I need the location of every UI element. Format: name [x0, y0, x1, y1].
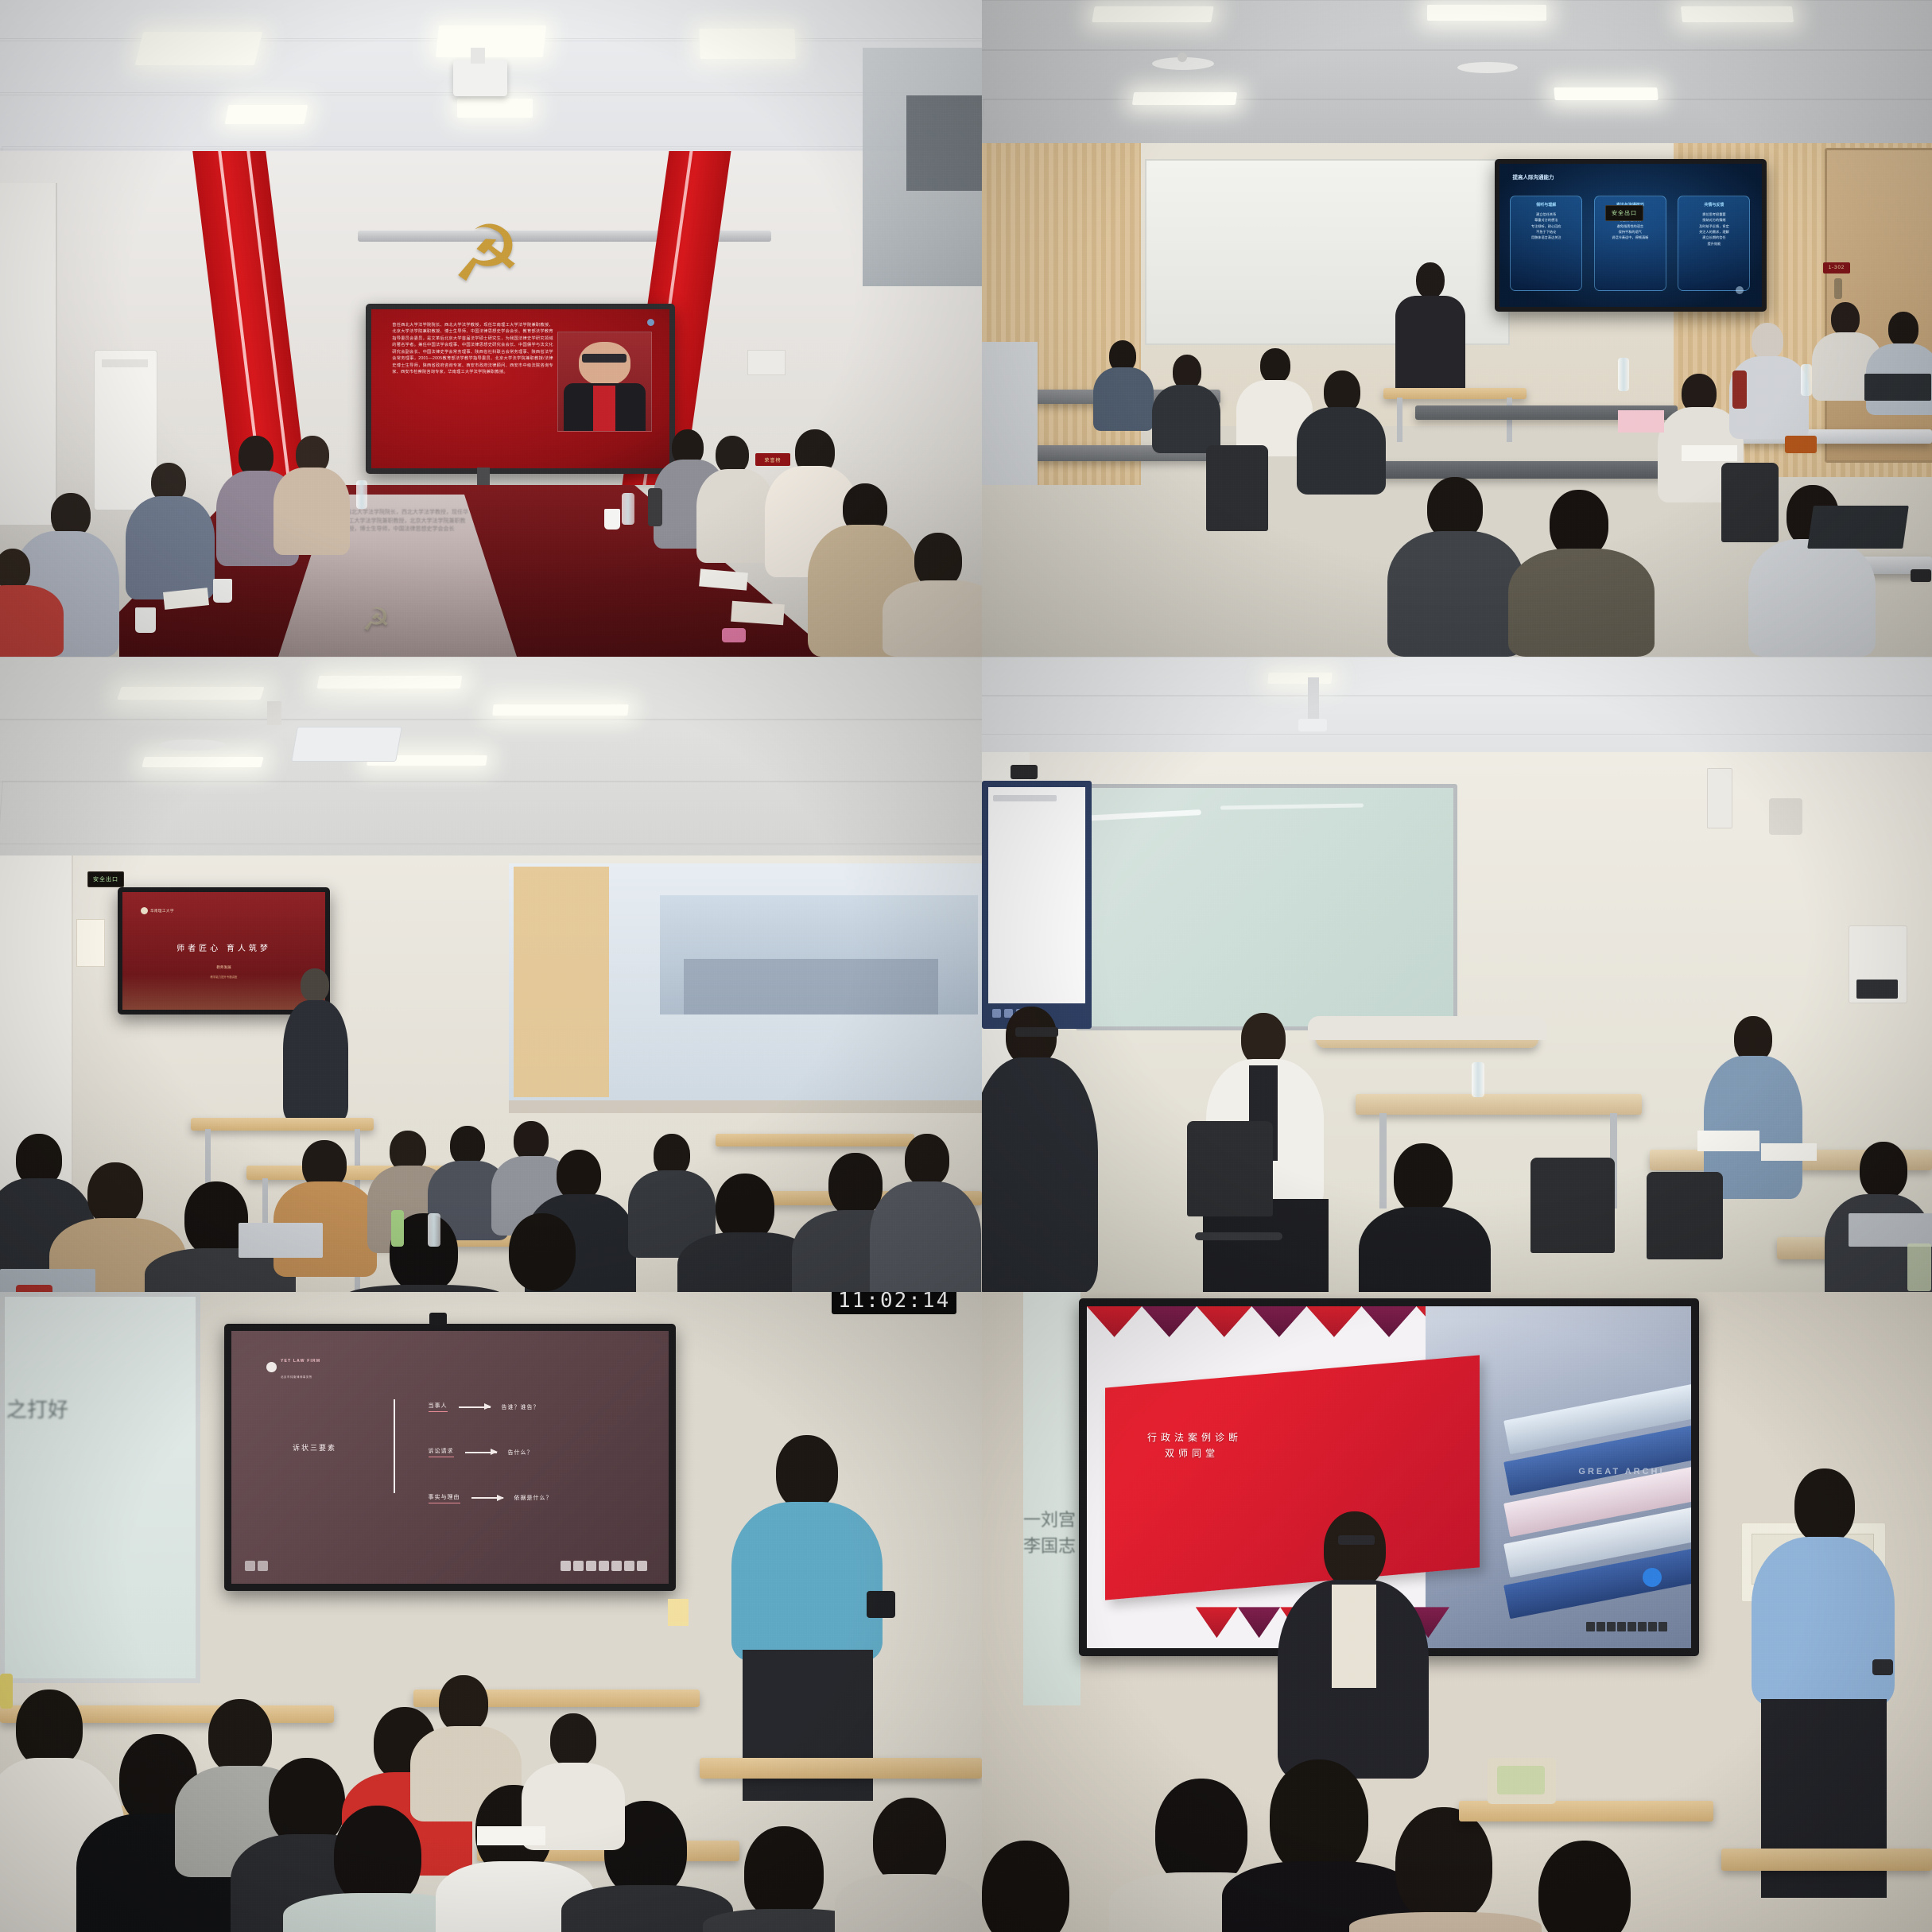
partition: [1308, 1016, 1546, 1040]
slide-biography: 曾任西北大学法学院院长、西北大学法学教授，现任华南理工大学法学院兼职教授、北京大…: [371, 309, 669, 468]
city-view: [684, 959, 938, 1014]
document: [1697, 1131, 1759, 1151]
attendee-body: [982, 1057, 1098, 1292]
bag: [16, 1285, 52, 1292]
student-desk: [716, 1134, 914, 1146]
slide-row: 当事人 告谁？谁告？: [429, 1402, 540, 1412]
camera: [429, 1313, 447, 1325]
brand-line-1: YET LAW FIRM: [281, 1359, 320, 1364]
plant: [1497, 1766, 1545, 1794]
office-chair: [1721, 463, 1779, 542]
slide-subtitle: 教师发展: [122, 965, 325, 970]
attendee-body: [1387, 531, 1524, 657]
attendee-body: [1297, 407, 1386, 495]
office-chair: [1206, 445, 1268, 531]
ceiling-light: [492, 704, 628, 716]
biography-text: 曾任西北大学法学院院长、西北大学法学教授，现任华南理工大学法学院兼职教授、北京大…: [392, 322, 553, 375]
pink-paper: [1618, 410, 1664, 433]
row-key: 诉讼请求: [429, 1447, 454, 1457]
attendee-head: [1860, 1142, 1907, 1199]
org-logo: 华南理工大学: [141, 907, 174, 914]
wall-panel: [1856, 980, 1898, 999]
thermos-bottle: [648, 488, 662, 526]
app-toolbar: [993, 795, 1057, 801]
seminar-table: [1356, 1094, 1642, 1115]
lecturer-body: [731, 1502, 883, 1661]
lecturer-head: [1416, 262, 1445, 299]
ceiling-light: [1132, 92, 1237, 105]
window-sill: [509, 1100, 982, 1113]
firm-brand: YET LAW FIRM 北京市炜衡律师事务所: [266, 1351, 320, 1383]
attendee-head: [828, 1153, 883, 1216]
arrow-icon: [459, 1406, 491, 1408]
watermark-icon: [647, 319, 654, 326]
attendee-body: [696, 469, 774, 563]
ceiling-light: [1092, 6, 1214, 22]
table-reflection-text: 曾任西北大学法学院院长，西北大学法学教授，现任华南理工大学法学院兼职教授，北京大…: [334, 509, 469, 628]
paper-cup: [604, 509, 620, 530]
panel-dual-teacher-class: 一刘宫 李国志: [982, 1292, 1932, 1932]
paper-cup: [135, 607, 156, 633]
laptop: [1864, 374, 1931, 401]
slide-complaint-elements: YET LAW FIRM 北京市炜衡律师事务所 诉状三要素 当事人 告谁？谁告？…: [231, 1331, 669, 1584]
student-body: [835, 1874, 982, 1932]
pink-item: [722, 628, 746, 642]
left-cabinet: [0, 183, 57, 525]
phone: [1911, 569, 1931, 582]
water-bottle: [0, 1674, 13, 1709]
instructor-head: [1324, 1511, 1386, 1588]
attendee-head: [87, 1162, 143, 1226]
teacher-head: [1241, 1013, 1286, 1065]
attendee-head: [557, 1150, 601, 1201]
lecturer-body: [283, 1000, 348, 1121]
cup: [1785, 436, 1817, 453]
row-value: 依据是什么？: [514, 1494, 553, 1502]
lecturer-head: [776, 1435, 838, 1510]
student-head: [550, 1713, 596, 1767]
laptop: [1807, 506, 1909, 549]
wall-poster: [76, 919, 105, 967]
attendee-body: [1508, 549, 1655, 657]
notebook: [731, 601, 785, 626]
attendee-head: [509, 1213, 576, 1291]
air-conditioner: [94, 350, 157, 510]
slide-teacher-training: 华南理工大学 师者匠心 育人筑梦 教师发展 教学能力提升专题讲座: [122, 892, 325, 1010]
watermark-icon: [1643, 1568, 1662, 1587]
ceiling: [982, 0, 1932, 167]
glass-whiteboard: [1023, 1292, 1080, 1705]
student-head: [1270, 1759, 1368, 1877]
ceiling-light: [1267, 673, 1332, 684]
water-bottle: [1618, 358, 1629, 391]
brand-line-2: 北京市炜衡律师事务所: [281, 1375, 312, 1379]
water-bottle: [428, 1213, 440, 1247]
room-sign: 1-302: [1823, 262, 1850, 274]
glass-whiteboard: [0, 1292, 200, 1683]
wristwatch: [1872, 1659, 1893, 1675]
attendee-body: [1093, 367, 1154, 431]
student-desk: [191, 1118, 374, 1131]
glasses: [1338, 1535, 1375, 1545]
laptop: [1849, 1213, 1932, 1247]
panel-seminar-room-lecture: 提高人际沟通能力 倾听与理解 建立信任关系 尊重对方的想法 专注倾听，耐心回应 …: [982, 0, 1932, 657]
student-head: [744, 1826, 824, 1920]
exit-sign: 安全出口: [1605, 205, 1643, 221]
student-head: [208, 1699, 272, 1774]
student-head: [1538, 1841, 1631, 1932]
slide-row: 事实与理由 依据是什么？: [429, 1493, 553, 1503]
ceiling-mount: [267, 701, 281, 725]
ceiling-light: [436, 25, 546, 57]
sticky-note: [668, 1599, 689, 1626]
attendee-head: [905, 1134, 949, 1186]
ceiling-pipe: [1707, 768, 1732, 828]
column-items: 建立信任关系 尊重对方的想法 专注倾听，耐心回应 不急于下结论 用肢体语言表达关…: [1517, 211, 1575, 241]
water-bottle: [1801, 364, 1812, 396]
document: [1761, 1143, 1817, 1161]
hammer-sickle-emblem: ☭: [452, 215, 522, 293]
podium: [982, 342, 1038, 485]
attendee-head: [1831, 302, 1860, 336]
attendee-head: [716, 436, 749, 474]
curtain: [514, 867, 609, 1097]
ceiling-light: [457, 99, 533, 118]
student-desk: [1721, 1849, 1932, 1871]
ceiling-mount: [1308, 677, 1319, 722]
document: [477, 1826, 545, 1845]
document: [1682, 445, 1737, 461]
row-value: 告什么？: [508, 1449, 533, 1457]
student-body: [1349, 1912, 1542, 1932]
column-items: 换位思考很重要 接纳对方的情绪 及时给予反馈，肯定 关注人的需求，理解 建立长期…: [1685, 211, 1743, 246]
row-key: 事实与理由: [429, 1493, 460, 1503]
projector-mount: [471, 48, 485, 64]
attendee-body: [0, 585, 64, 657]
whiteboard-handwriting: 之打好: [6, 1394, 126, 1441]
attendee-head: [1260, 348, 1290, 383]
slide-toolbar[interactable]: [1586, 1622, 1667, 1631]
panel-small-group-seminar: [982, 657, 1932, 1292]
door-handle[interactable]: [1834, 278, 1842, 299]
slide-communication: 提高人际沟通能力 倾听与理解 建立信任关系 尊重对方的想法 专注倾听，耐心回应 …: [1499, 164, 1762, 307]
exit-sign: 安全出口: [87, 871, 124, 887]
ac-vent: [291, 727, 402, 762]
smart-panel[interactable]: [982, 781, 1092, 1029]
column-heading: 共情与反馈: [1678, 202, 1749, 208]
row-key: 当事人: [429, 1402, 448, 1412]
attendee-body: [1152, 385, 1220, 453]
logo-mark: [141, 907, 148, 914]
laptop: [239, 1223, 323, 1258]
logo-mark: [266, 1362, 277, 1372]
book-caption: GREAT ARCHI: [1578, 1467, 1664, 1476]
ac-vent: [102, 359, 148, 367]
paper-cup: [213, 579, 232, 603]
wall-speaker: [747, 350, 786, 375]
slide-divider: [394, 1399, 396, 1493]
slide-column: 共情与反馈 换位思考很重要 接纳对方的情绪 及时给予反馈，肯定 关注人的需求，理…: [1678, 196, 1750, 292]
glass-whiteboard: [1076, 784, 1457, 1030]
panel-party-meeting-room: ☭ 曾任西北大学法学院院长、西北大学法学教授，现任华南理工大学法学院兼职教授、北…: [0, 0, 982, 657]
slide-title: 行政法案例诊断 双师同堂: [1147, 1430, 1242, 1462]
ceiling: [982, 657, 1932, 768]
attendee-body: [883, 580, 982, 657]
water-bottle: [622, 493, 634, 525]
student-head: [982, 1841, 1069, 1932]
lecturer-body: [1395, 296, 1465, 399]
city-silhouette: [122, 975, 325, 1010]
student-head: [16, 1690, 83, 1767]
arrow-icon: [471, 1497, 503, 1499]
glass-cup: [1907, 1243, 1931, 1291]
wall-display[interactable]: 提高人际沟通能力 倾听与理解 建立信任关系 尊重对方的想法 专注倾听，耐心回应 …: [1495, 159, 1767, 312]
toolbar-icon[interactable]: [992, 1009, 1001, 1018]
camera: [1011, 765, 1038, 779]
microphone: [867, 1591, 895, 1618]
student-head: [334, 1806, 421, 1907]
thermos-bottle: [1732, 370, 1747, 409]
slide-corner-icons[interactable]: [245, 1561, 268, 1571]
office-chair: [1187, 1121, 1273, 1216]
student-desk: [700, 1758, 982, 1779]
attendee-head: [1394, 1143, 1453, 1213]
panel-lecture-hall: 华南理工大学 师者匠心 育人筑梦 教师发展 教学能力提升专题讲座 安全出口: [0, 657, 982, 1292]
water-bottle: [356, 480, 367, 509]
glasses: [1015, 1027, 1058, 1037]
office-chair: [1530, 1158, 1615, 1253]
projector: [1298, 719, 1327, 731]
fan-hub: [1177, 52, 1187, 62]
window-pane: [906, 95, 982, 191]
photo-collage: ☭ 曾任西北大学法学院院长、西北大学法学教授，现任华南理工大学法学院兼职教授、北…: [0, 0, 1932, 1932]
attendee-head: [0, 549, 30, 590]
instructor-head: [1794, 1468, 1855, 1543]
wall-display[interactable]: 华南理工大学 师者匠心 育人筑梦 教师发展 教学能力提升专题讲座: [118, 887, 330, 1014]
slide-toolbar[interactable]: [561, 1561, 647, 1571]
slide-title: 提高人际沟通能力: [1513, 173, 1554, 180]
student-head: [873, 1798, 946, 1885]
student-head: [439, 1675, 488, 1732]
slide-column: 倾听与理解 建立信任关系 尊重对方的想法 专注倾听，耐心回应 不急于下结论 用肢…: [1510, 196, 1582, 292]
row-value: 告谁？谁告？: [502, 1403, 540, 1411]
ceiling-light: [1554, 87, 1658, 100]
projector: [453, 60, 507, 96]
instructor-body: [1752, 1537, 1895, 1705]
attendee-body: [870, 1181, 981, 1292]
chair-base: [1195, 1232, 1282, 1240]
panel-classroom-lecture: 之打好 11:02:14 YET LAW FIRM 北京市炜衡律师事务所 诉状三…: [0, 1292, 982, 1932]
table-reflection-emblem: ☭: [362, 604, 390, 636]
office-chair: [1647, 1172, 1723, 1259]
attendee-body: [126, 496, 215, 599]
front-table: [1383, 388, 1527, 399]
attendee-body: [274, 467, 350, 555]
org-name: 华南理工大学: [150, 909, 174, 914]
wall-display[interactable]: 曾任西北大学法学院院长、西北大学法学教授，现任华南理工大学法学院兼职教授、北京大…: [366, 304, 675, 474]
ceiling-light: [142, 757, 263, 767]
slide-row: 诉讼请求 告什么？: [429, 1447, 533, 1457]
ceiling-light: [117, 687, 264, 700]
attendee-body: [1359, 1207, 1491, 1292]
ceiling: [0, 657, 982, 871]
student-head: [1395, 1807, 1492, 1923]
attendee-head: [450, 1126, 485, 1166]
slide-topic: 诉状三要素: [293, 1442, 336, 1453]
water-bottle: [1472, 1062, 1484, 1097]
attendee-head: [1752, 323, 1783, 359]
ceiling-light: [699, 29, 795, 59]
ceiling-light: [1427, 5, 1546, 21]
lecturer-head: [301, 968, 329, 1002]
arrow-icon: [465, 1452, 497, 1453]
attendee-head: [1888, 312, 1918, 347]
ceiling-light: [225, 105, 308, 124]
watermark-icon: [1736, 286, 1744, 294]
ceiling-light: [317, 676, 463, 689]
column-heading: 倾听与理解: [1511, 202, 1581, 208]
whiteboard-handwriting: 一刘宫 李国志: [1023, 1507, 1082, 1586]
attendee-body: [1748, 539, 1876, 657]
title-block: [1105, 1355, 1480, 1600]
clock-display: 11:02:14: [832, 1292, 956, 1314]
portrait-photo: [557, 332, 651, 432]
water-bottle: [391, 1210, 404, 1247]
attendee-head: [514, 1121, 549, 1161]
ceiling-light: [135, 32, 262, 65]
wall-speaker: [1769, 798, 1802, 835]
wall-display[interactable]: YET LAW FIRM 北京市炜衡律师事务所 诉状三要素 当事人 告谁？谁告？…: [224, 1324, 676, 1591]
instructor-blouse: [1332, 1585, 1376, 1688]
ceiling-light: [1681, 6, 1794, 22]
ceiling-fan: [159, 739, 226, 751]
wall-sign: 荣誉榜: [755, 453, 790, 466]
slide-title: 师者匠心 育人筑梦: [122, 941, 325, 953]
ceiling-fan: [1457, 62, 1518, 73]
